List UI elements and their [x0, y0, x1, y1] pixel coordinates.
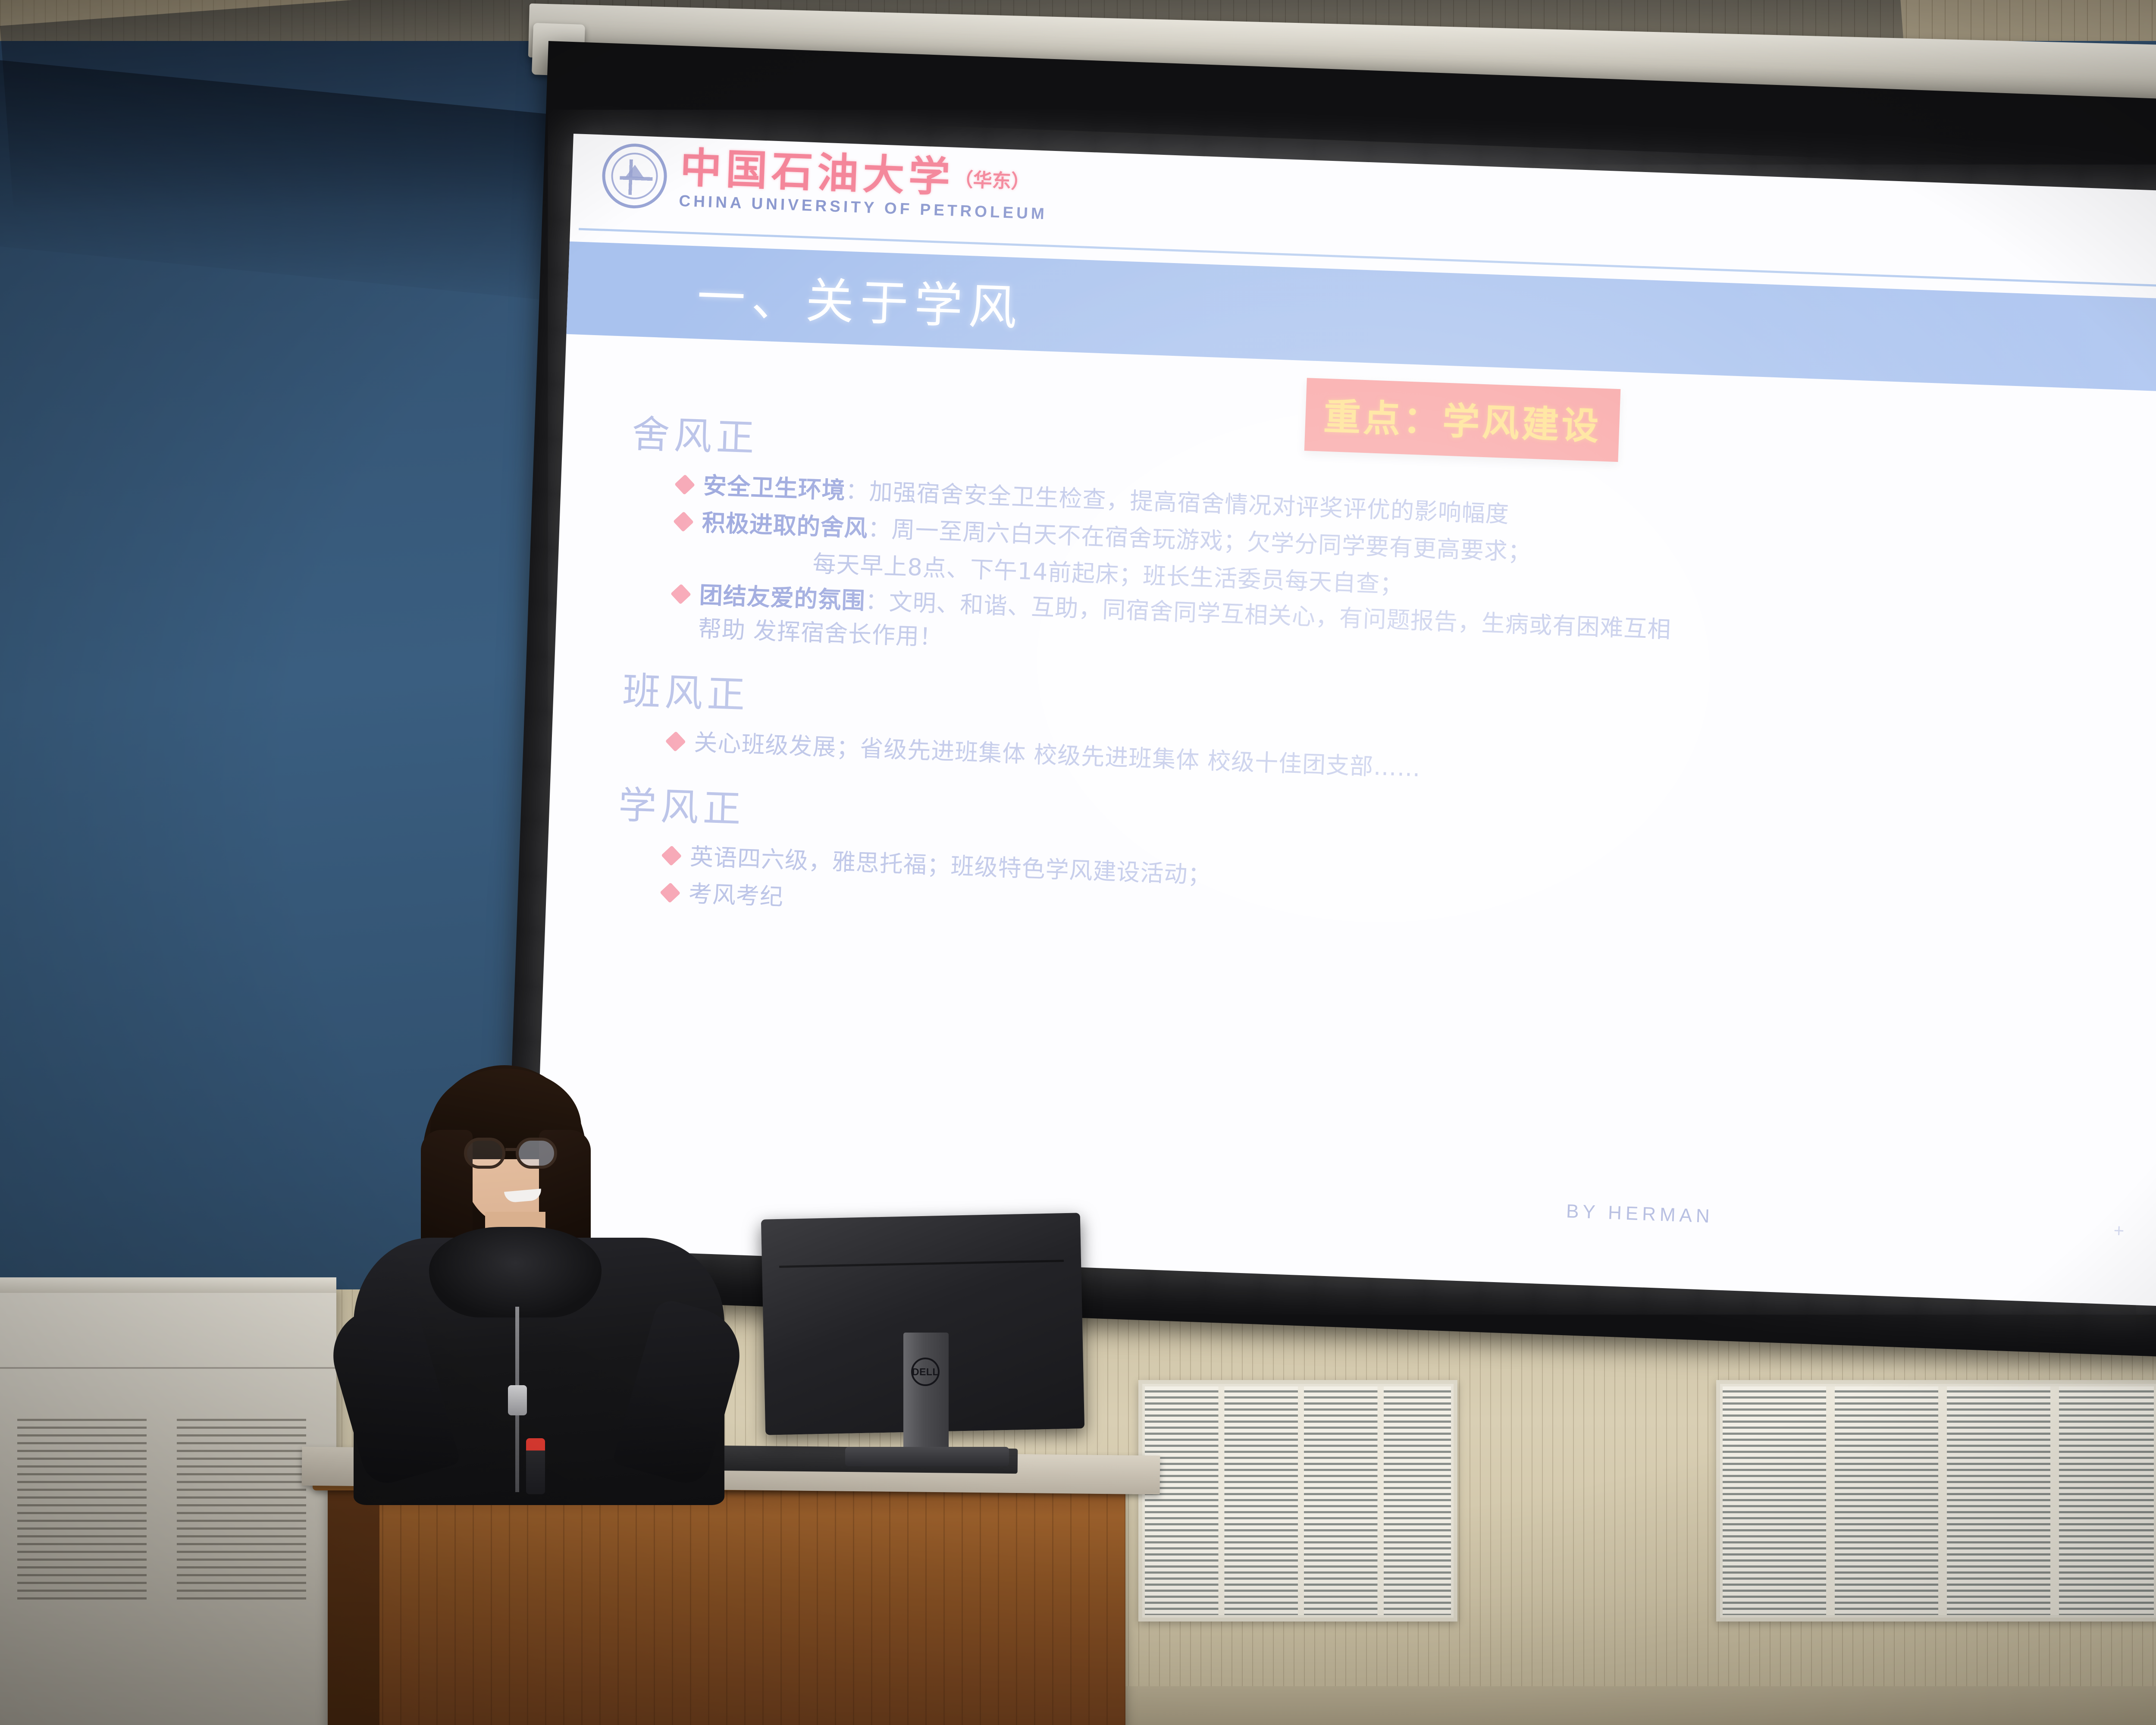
projected-slide: 中国石油大学（华东） CHINA UNIVERSITY OF PETROLEUM… [534, 134, 2156, 1306]
slide-corner-marker: + [2113, 1220, 2125, 1241]
diamond-bullet-icon [665, 731, 686, 752]
glasses-lens-left [464, 1138, 505, 1169]
cabinet-vent-left [17, 1419, 147, 1600]
cabinet-door-seam [0, 1367, 336, 1369]
podium-left-panel [328, 1479, 379, 1725]
slide-title: 一、关于学风 [696, 257, 1024, 339]
coat-zipper-pull [508, 1385, 527, 1415]
wall-vent-grille [1138, 1380, 1457, 1621]
diamond-bullet-icon [660, 882, 680, 903]
university-name-cn-main: 中国石油大学 [679, 143, 955, 201]
cabinet-top [0, 1277, 336, 1293]
monitor-base [845, 1447, 1009, 1466]
vent-dividers [1145, 1386, 1451, 1615]
wall-vent-grille [1716, 1380, 2156, 1621]
glasses-lens-right [516, 1138, 557, 1169]
seal-star-glyph [625, 164, 644, 178]
bullet-lead: 积极进取的舍风 [702, 509, 868, 542]
monitor-rear-seam [779, 1260, 1064, 1268]
diamond-bullet-icon [671, 584, 691, 605]
slide-credit: BY HERMAN [1566, 1201, 1714, 1227]
bullet-lead: 安全卫生环境 [703, 472, 846, 504]
presenter-fur-hood [429, 1227, 602, 1317]
monitor-stand [903, 1333, 949, 1462]
presenter [336, 1065, 742, 1496]
university-name-block: 中国石油大学（华东） CHINA UNIVERSITY OF PETROLEUM [679, 147, 1049, 221]
storage-cabinet[interactable] [0, 1289, 336, 1725]
seal-core-glyph [619, 159, 653, 196]
bullet-lead: 团结友爱的氛围 [699, 581, 866, 615]
podium-wood-grain [328, 1479, 1125, 1725]
slide-title-band: 一、关于学风 [549, 241, 2156, 393]
podium [328, 1479, 1125, 1725]
slide-logo-header: 中国石油大学（华东） CHINA UNIVERSITY OF PETROLEUM [601, 142, 1049, 223]
screenshot-root: 中国石油大学（华东） CHINA UNIVERSITY OF PETROLEUM… [0, 0, 2156, 1725]
slide-body: 舍风正 安全卫生环境：加强宿舍安全卫生检查，提高宿舍情况对评奖评优的影响幅度 积… [614, 403, 2156, 969]
glasses-bridge [505, 1148, 517, 1151]
diamond-bullet-icon [674, 474, 695, 495]
university-seal-icon [601, 142, 668, 209]
vent-dividers [1723, 1386, 2154, 1615]
slide-content: 中国石油大学（华东） CHINA UNIVERSITY OF PETROLEUM… [534, 134, 2156, 1306]
university-name-cn: 中国石油大学（华东） [680, 147, 1050, 201]
microphone-icon [526, 1438, 545, 1494]
diamond-bullet-icon [673, 511, 694, 532]
cabinet-vent-right [177, 1419, 306, 1600]
eyeglasses-icon [464, 1138, 567, 1169]
university-name-cn-suffix: （华东） [954, 168, 1031, 193]
dell-logo-icon: DELL [911, 1358, 940, 1386]
bullet-text: 考风考纪 [688, 879, 784, 912]
diamond-bullet-icon [661, 845, 682, 866]
